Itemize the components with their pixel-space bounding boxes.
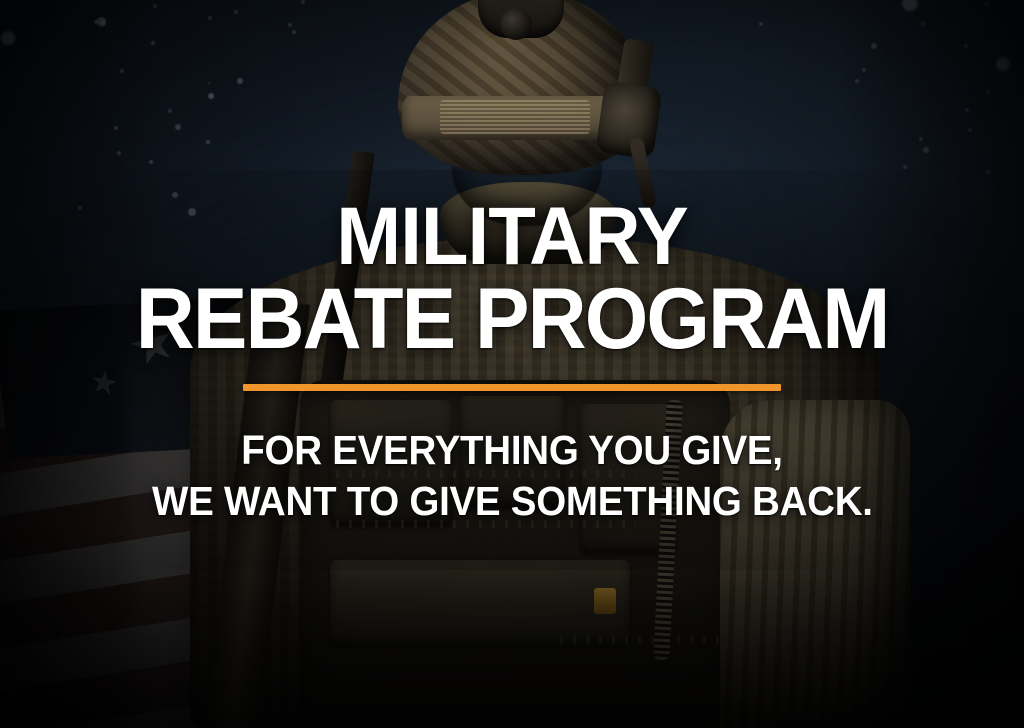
headline-line-2: REBATE PROGRAM [136, 277, 889, 362]
subhead-line-1: FOR EVERYTHING YOU GIVE, [241, 425, 782, 476]
orange-divider-rule [243, 384, 781, 391]
headline-line-1: MILITARY [336, 196, 688, 277]
subhead-line-2: WE WANT TO GIVE SOMETHING BACK. [152, 476, 873, 527]
military-rebate-banner: MILITARY REBATE PROGRAM FOR EVERYTHING Y… [0, 0, 1024, 728]
banner-content: MILITARY REBATE PROGRAM FOR EVERYTHING Y… [0, 0, 1024, 728]
